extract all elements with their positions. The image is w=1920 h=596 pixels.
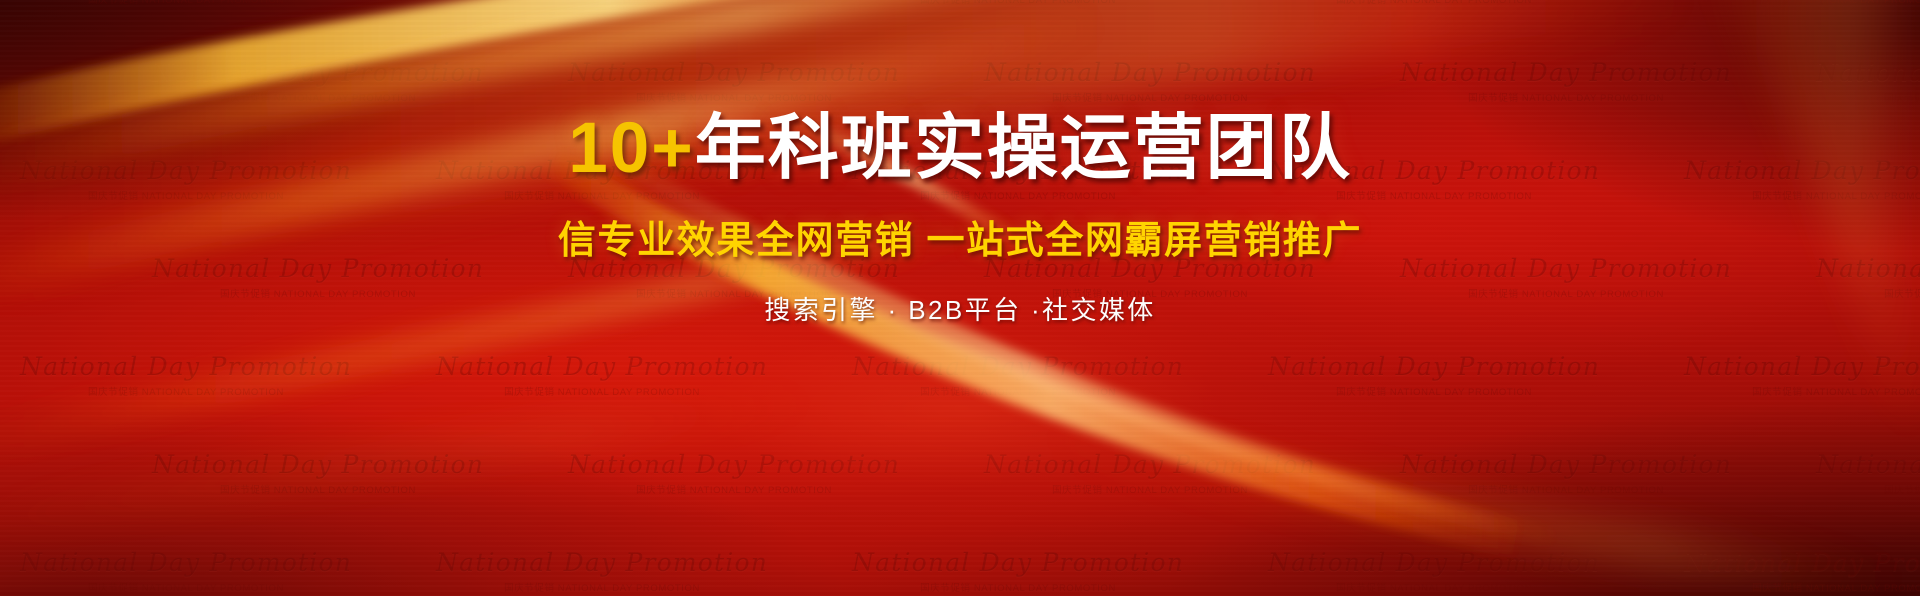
watermark-script-text: National Day Promotion bbox=[436, 352, 768, 381]
watermark-script-text: National Day Promotion bbox=[152, 58, 484, 87]
watermark-sub-text: 国庆节促销 NATIONAL DAY PROMOTION bbox=[1684, 384, 1920, 398]
watermark-sub-text: 国庆节促销 NATIONAL DAY PROMOTION bbox=[1684, 0, 1920, 6]
watermark-sub-text: 国庆节促销 NATIONAL DAY PROMOTION bbox=[1684, 580, 1920, 594]
watermark-item: National Day Promotion国庆节促销 NATIONAL DAY… bbox=[1400, 450, 1732, 496]
watermark-item: National Day Promotion国庆节促销 NATIONAL DAY… bbox=[1268, 0, 1600, 6]
watermark-sub-text: 国庆节促销 NATIONAL DAY PROMOTION bbox=[152, 90, 484, 104]
watermark-script-text: National Day Promotion bbox=[436, 548, 768, 577]
watermark-script-text: National Day Promotion bbox=[1268, 352, 1600, 381]
watermark-row: National Day Promotion国庆节促销 NATIONAL DAY… bbox=[0, 450, 1920, 496]
watermark-item: National Day Promotion国庆节促销 NATIONAL DAY… bbox=[852, 0, 1184, 6]
watermark-item: National Day Promotion国庆节促销 NATIONAL DAY… bbox=[20, 548, 352, 594]
watermark-row: National Day Promotion国庆节促销 NATIONAL DAY… bbox=[0, 58, 1920, 104]
watermark-item: National Day Promotion国庆节促销 NATIONAL DAY… bbox=[152, 450, 484, 496]
tagline: 搜索引擎 · B2B平台 ·社交媒体 bbox=[0, 290, 1920, 327]
watermark-sub-text: 国庆节促销 NATIONAL DAY PROMOTION bbox=[568, 90, 900, 104]
watermark-sub-text: 国庆节促销 NATIONAL DAY PROMOTION bbox=[152, 482, 484, 496]
watermark-sub-text: 国庆节促销 NATIONAL DAY PROMOTION bbox=[1268, 580, 1600, 594]
watermark-item: National Day Promotion国庆节促销 NATIONAL DAY… bbox=[1816, 58, 1920, 104]
watermark-item: National Day Promotion国庆节促销 NATIONAL DAY… bbox=[1268, 352, 1600, 398]
headline: 10+年科班实操运营团队 bbox=[0, 112, 1920, 186]
watermark-sub-text: 国庆节促销 NATIONAL DAY PROMOTION bbox=[852, 384, 1184, 398]
watermark-item: National Day Promotion国庆节促销 NATIONAL DAY… bbox=[852, 352, 1184, 398]
watermark-script-text: National Day Promotion bbox=[1816, 58, 1920, 87]
watermark-sub-text: 国庆节促销 NATIONAL DAY PROMOTION bbox=[436, 384, 768, 398]
watermark-sub-text: 国庆节促销 NATIONAL DAY PROMOTION bbox=[568, 482, 900, 496]
watermark-item: National Day Promotion国庆节促销 NATIONAL DAY… bbox=[20, 0, 352, 6]
watermark-sub-text: 国庆节促销 NATIONAL DAY PROMOTION bbox=[984, 482, 1316, 496]
watermark-script-text: National Day Promotion bbox=[1400, 450, 1732, 479]
watermark-item: National Day Promotion国庆节促销 NATIONAL DAY… bbox=[436, 352, 768, 398]
watermark-row: National Day Promotion国庆节促销 NATIONAL DAY… bbox=[0, 548, 1920, 594]
watermark-item: National Day Promotion国庆节促销 NATIONAL DAY… bbox=[1684, 548, 1920, 594]
watermark-sub-text: 国庆节促销 NATIONAL DAY PROMOTION bbox=[1268, 384, 1600, 398]
watermark-item: National Day Promotion国庆节促销 NATIONAL DAY… bbox=[436, 548, 768, 594]
watermark-script-text: National Day Promotion bbox=[568, 450, 900, 479]
watermark-sub-text: 国庆节促销 NATIONAL DAY PROMOTION bbox=[20, 384, 352, 398]
watermark-item: National Day Promotion国庆节促销 NATIONAL DAY… bbox=[1400, 58, 1732, 104]
watermark-script-text: National Day Promotion bbox=[1816, 450, 1920, 479]
watermark-sub-text: 国庆节促销 NATIONAL DAY PROMOTION bbox=[20, 0, 352, 6]
watermark-item: National Day Promotion国庆节促销 NATIONAL DAY… bbox=[1684, 0, 1920, 6]
promotional-banner: National Day Promotion国庆节促销 NATIONAL DAY… bbox=[0, 0, 1920, 596]
watermark-item: National Day Promotion国庆节促销 NATIONAL DAY… bbox=[1684, 352, 1920, 398]
watermark-sub-text: 国庆节促销 NATIONAL DAY PROMOTION bbox=[984, 90, 1316, 104]
headline-rest: 年科班实操运营团队 bbox=[695, 109, 1352, 188]
watermark-sub-text: 国庆节促销 NATIONAL DAY PROMOTION bbox=[1400, 90, 1732, 104]
watermark-script-text: National Day Promotion bbox=[1684, 352, 1920, 381]
watermark-sub-text: 国庆节促销 NATIONAL DAY PROMOTION bbox=[1816, 90, 1920, 104]
watermark-sub-text: 国庆节促销 NATIONAL DAY PROMOTION bbox=[436, 0, 768, 6]
watermark-row: National Day Promotion国庆节促销 NATIONAL DAY… bbox=[0, 352, 1920, 398]
watermark-sub-text: 国庆节促销 NATIONAL DAY PROMOTION bbox=[852, 580, 1184, 594]
subline: 信专业效果全网营销 一站式全网霸屏营销推广 bbox=[0, 209, 1920, 264]
watermark-script-text: National Day Promotion bbox=[152, 450, 484, 479]
headline-accent: 10+ bbox=[568, 109, 694, 188]
watermark-script-text: National Day Promotion bbox=[1400, 58, 1732, 87]
watermark-sub-text: 国庆节促销 NATIONAL DAY PROMOTION bbox=[436, 580, 768, 594]
watermark-row: National Day Promotion国庆节促销 NATIONAL DAY… bbox=[0, 0, 1920, 6]
watermark-sub-text: 国庆节促销 NATIONAL DAY PROMOTION bbox=[852, 0, 1184, 6]
watermark-script-text: National Day Promotion bbox=[984, 58, 1316, 87]
watermark-script-text: National Day Promotion bbox=[984, 450, 1316, 479]
watermark-sub-text: 国庆节促销 NATIONAL DAY PROMOTION bbox=[1268, 0, 1600, 6]
watermark-sub-text: 国庆节促销 NATIONAL DAY PROMOTION bbox=[1400, 482, 1732, 496]
watermark-script-text: National Day Promotion bbox=[20, 548, 352, 577]
watermark-item: National Day Promotion国庆节促销 NATIONAL DAY… bbox=[984, 58, 1316, 104]
watermark-item: National Day Promotion国庆节促销 NATIONAL DAY… bbox=[568, 58, 900, 104]
watermark-script-text: National Day Promotion bbox=[1268, 548, 1600, 577]
watermark-item: National Day Promotion国庆节促销 NATIONAL DAY… bbox=[1816, 450, 1920, 496]
watermark-script-text: National Day Promotion bbox=[568, 58, 900, 87]
watermark-script-text: National Day Promotion bbox=[852, 548, 1184, 577]
watermark-item: National Day Promotion国庆节促销 NATIONAL DAY… bbox=[984, 450, 1316, 496]
watermark-item: National Day Promotion国庆节促销 NATIONAL DAY… bbox=[568, 450, 900, 496]
watermark-item: National Day Promotion国庆节促销 NATIONAL DAY… bbox=[1268, 548, 1600, 594]
watermark-script-text: National Day Promotion bbox=[20, 352, 352, 381]
watermark-script-text: National Day Promotion bbox=[852, 352, 1184, 381]
banner-copy: 10+年科班实操运营团队 信专业效果全网营销 一站式全网霸屏营销推广 搜索引擎 … bbox=[0, 112, 1920, 327]
watermark-item: National Day Promotion国庆节促销 NATIONAL DAY… bbox=[152, 58, 484, 104]
watermark-script-text: National Day Promotion bbox=[1684, 548, 1920, 577]
watermark-item: National Day Promotion国庆节促销 NATIONAL DAY… bbox=[20, 352, 352, 398]
watermark-sub-text: 国庆节促销 NATIONAL DAY PROMOTION bbox=[1816, 482, 1920, 496]
watermark-item: National Day Promotion国庆节促销 NATIONAL DAY… bbox=[436, 0, 768, 6]
watermark-item: National Day Promotion国庆节促销 NATIONAL DAY… bbox=[852, 548, 1184, 594]
watermark-sub-text: 国庆节促销 NATIONAL DAY PROMOTION bbox=[20, 580, 352, 594]
